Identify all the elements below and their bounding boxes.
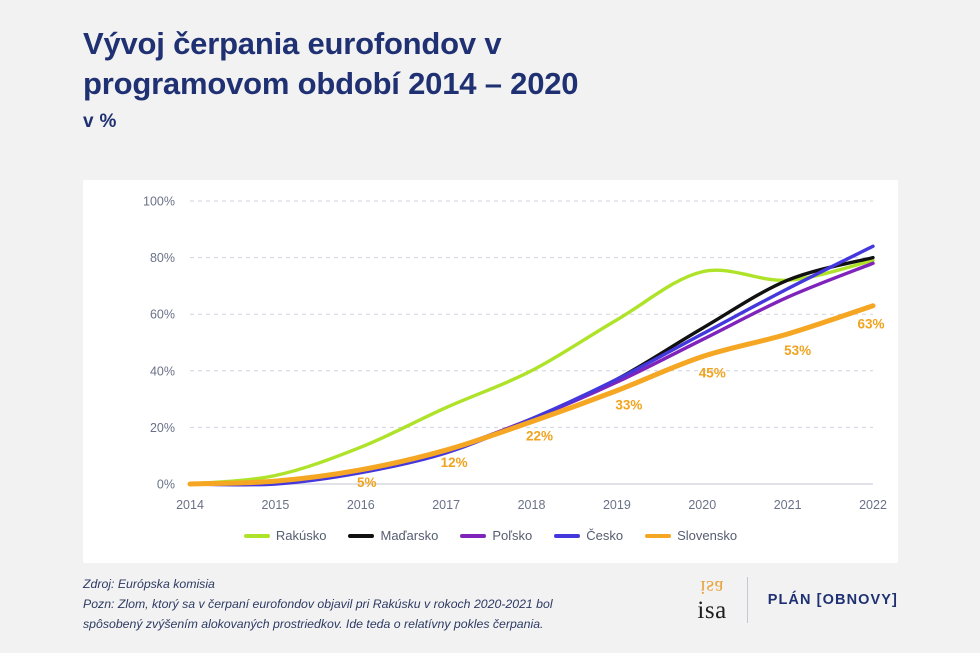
logo-group: isa isa PLÁN [OBNOVY]	[697, 575, 898, 623]
series-lines	[190, 246, 873, 485]
legend-item-rakúsko[interactable]: Rakúsko	[244, 528, 327, 543]
plan-obnovy-logo: PLÁN [OBNOVY]	[768, 592, 898, 608]
page-title: Vývoj čerpania eurofondov v programovom …	[83, 24, 903, 103]
series-line-česko	[190, 246, 873, 485]
legend-swatch-icon	[554, 534, 580, 538]
source-text: Zdroj: Európska komisia	[83, 575, 553, 595]
chart-footer: Zdroj: Európska komisia Pozn: Zlom, ktor…	[83, 575, 898, 635]
y-axis-tick-label: 100%	[143, 195, 175, 209]
x-axis-tick-label: 2020	[688, 498, 716, 512]
y-axis-tick-label: 20%	[150, 421, 175, 435]
x-axis-tick-label: 2021	[774, 498, 802, 512]
legend-label: Slovensko	[677, 528, 737, 543]
note-text: Pozn: Zlom, ktorý sa v čerpaní eurofondo…	[83, 595, 553, 635]
data-label: 33%	[615, 398, 642, 413]
y-axis-tick-label: 60%	[150, 308, 175, 322]
x-axis-tick-label: 2016	[347, 498, 375, 512]
line-chart-svg: 0%20%40%60%80%100% 201420152016201720182…	[83, 180, 898, 563]
y-axis-tick-labels: 0%20%40%60%80%100%	[143, 195, 175, 492]
page-subtitle: v %	[83, 111, 903, 133]
data-label: 53%	[784, 343, 811, 358]
y-axis-tick-label: 80%	[150, 251, 175, 265]
logo-divider	[747, 577, 748, 623]
legend-swatch-icon	[348, 534, 374, 538]
legend-label: Maďarsko	[380, 528, 438, 543]
x-axis-tick-label: 2014	[176, 498, 204, 512]
legend-swatch-icon	[645, 534, 671, 538]
plot-area: 0%20%40%60%80%100% 201420152016201720182…	[83, 180, 898, 563]
data-label: 45%	[699, 366, 726, 381]
y-axis-tick-label: 40%	[150, 364, 175, 378]
data-label: 22%	[526, 429, 553, 444]
source-and-notes: Zdroj: Európska komisia Pozn: Zlom, ktor…	[83, 575, 553, 635]
y-axis-tick-label: 0%	[157, 478, 175, 492]
chart-legend: RakúskoMaďarskoPoľskoČeskoSlovensko	[83, 528, 898, 543]
x-axis-tick-label: 2017	[432, 498, 460, 512]
isa-logo: isa isa	[697, 577, 726, 623]
chart-card: 0%20%40%60%80%100% 201420152016201720182…	[83, 180, 898, 563]
data-label: 5%	[357, 475, 377, 490]
legend-label: Rakúsko	[276, 528, 327, 543]
chart-header: Vývoj čerpania eurofondov v programovom …	[83, 24, 903, 133]
data-labels: 5%12%22%33%45%53%63%	[357, 317, 885, 490]
series-line-rakúsko	[190, 260, 873, 484]
legend-label: Česko	[586, 528, 623, 543]
data-label: 12%	[441, 455, 468, 470]
legend-swatch-icon	[460, 534, 486, 538]
x-axis-tick-label: 2018	[518, 498, 546, 512]
legend-item-poľsko[interactable]: Poľsko	[460, 528, 532, 543]
x-axis-tick-label: 2015	[261, 498, 289, 512]
x-axis-tick-label: 2019	[603, 498, 631, 512]
series-line-slovensko	[190, 306, 873, 484]
x-axis-tick-labels: 201420152016201720182019202020212022	[176, 498, 887, 512]
legend-item-maďarsko[interactable]: Maďarsko	[348, 528, 438, 543]
legend-item-česko[interactable]: Česko	[554, 528, 623, 543]
legend-label: Poľsko	[492, 528, 532, 543]
legend-swatch-icon	[244, 534, 270, 538]
data-label: 63%	[857, 317, 884, 332]
isa-mirror-wordmark: isa	[700, 577, 724, 597]
legend-item-slovensko[interactable]: Slovensko	[645, 528, 737, 543]
x-axis-tick-label: 2022	[859, 498, 887, 512]
isa-wordmark: isa	[697, 598, 726, 623]
